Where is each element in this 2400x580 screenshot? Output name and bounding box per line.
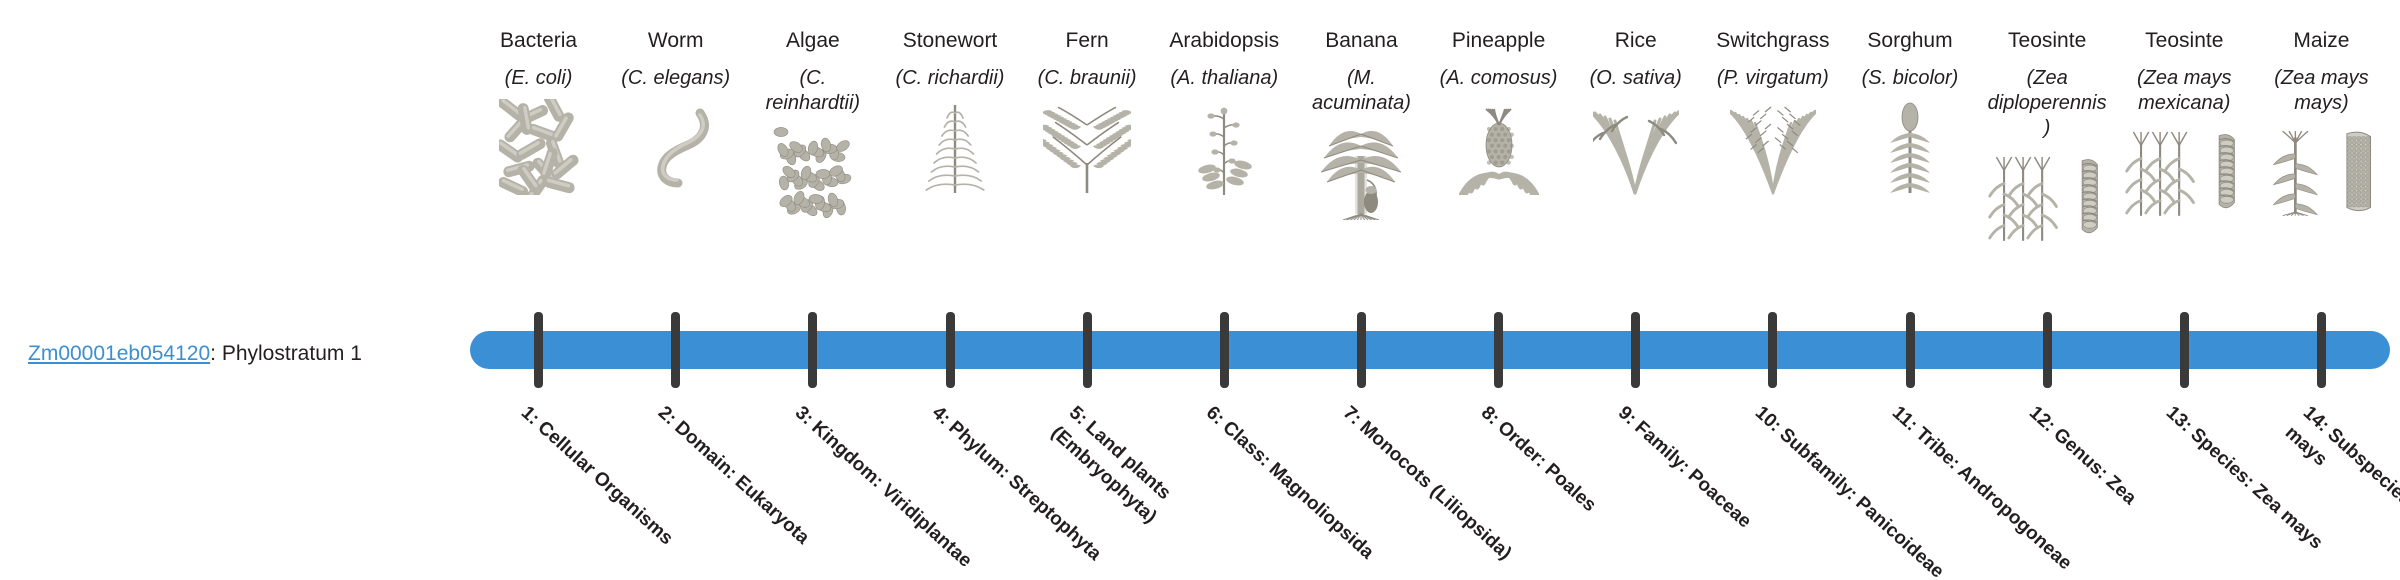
gene-phylostratum-label: Zm00001eb054120: Phylostratum 1 xyxy=(28,342,362,366)
phylostratum-number: 10: xyxy=(1751,402,1785,436)
species-column: Arabidopsis(A. thaliana) xyxy=(1162,28,1286,195)
species-scientific-name: (S. bicolor) xyxy=(1848,66,1972,91)
rice-illustration xyxy=(1574,99,1698,195)
species-common-name: Fern xyxy=(1025,28,1149,54)
species-common-name: Switchgrass xyxy=(1711,28,1835,54)
phylostratum-number: 11: xyxy=(1888,402,1922,435)
species-common-name: Pineapple xyxy=(1437,28,1561,54)
species-common-name: Teosinte xyxy=(2122,28,2246,54)
species-common-name: Stonewort xyxy=(888,28,1012,54)
species-column: Teosinte(Zea mays mexicana) xyxy=(2122,28,2246,220)
phylostratum-rank-text: Order: Poales xyxy=(1493,417,1600,516)
banana-illustration xyxy=(1299,124,1423,220)
species-column: Sorghum(S. bicolor) xyxy=(1848,28,1972,195)
species-column: Switchgrass(P. virgatum) xyxy=(1711,28,1835,195)
phylostratum-tick[interactable] xyxy=(671,312,680,388)
phylostratum-track: Bacteria(E. coli) xyxy=(470,0,2390,580)
species-column: Banana(M. acuminata) xyxy=(1299,28,1423,220)
gene-label-separator: : xyxy=(210,342,222,365)
maize-illustration xyxy=(2259,124,2383,220)
species-scientific-name: (O. sativa) xyxy=(1574,66,1698,91)
species-scientific-name: (A. thaliana) xyxy=(1162,66,1286,91)
species-column: Pineapple(A. comosus) xyxy=(1437,28,1561,195)
species-scientific-name: (A. comosus) xyxy=(1437,66,1561,91)
phylostratum-bar[interactable] xyxy=(470,331,2390,369)
arabidopsis-illustration xyxy=(1162,99,1286,195)
species-common-name: Banana xyxy=(1299,28,1423,54)
teosinte-diploperennis-illustration xyxy=(1985,149,2109,245)
species-scientific-name: (Zea mays mays) xyxy=(2259,66,2383,116)
nematode-illustration xyxy=(614,99,738,195)
sorghum-illustration xyxy=(1848,99,1972,195)
phylostratum-tick[interactable] xyxy=(1768,312,1777,388)
phylostratum-rank-text: Monocots (Liliopsida) xyxy=(1356,417,1516,564)
species-common-name: Maize xyxy=(2259,28,2383,54)
phylostratum-number: 12: xyxy=(2025,402,2059,436)
phylostratum-tick[interactable] xyxy=(1083,312,1092,388)
species-scientific-name: (Zea mays mexicana) xyxy=(2122,66,2246,116)
phylostratum-tick[interactable] xyxy=(808,312,817,388)
species-scientific-name: (C. richardii) xyxy=(888,66,1012,91)
species-common-name: Algae xyxy=(751,28,875,54)
phylostratum-tick[interactable] xyxy=(1494,312,1503,388)
species-column: Stonewort(C. richardii) xyxy=(888,28,1012,195)
species-scientific-name: (P. virgatum) xyxy=(1711,66,1835,91)
species-common-name: Bacteria xyxy=(477,28,601,54)
species-scientific-name: (C. braunii) xyxy=(1025,66,1149,91)
phylostratum-tick[interactable] xyxy=(2180,312,2189,388)
species-scientific-name: (M. acuminata) xyxy=(1299,66,1423,116)
species-column: Teosinte(Zea diploperennis) xyxy=(1985,28,2109,245)
pineapple-illustration xyxy=(1437,99,1561,195)
phylostratum-rank-text: Genus: Zea xyxy=(2049,424,2140,509)
teosinte-mexicana-illustration xyxy=(2122,124,2246,220)
species-common-name: Arabidopsis xyxy=(1162,28,1286,54)
species-scientific-name: (C. reinhardtii) xyxy=(751,66,875,116)
phylostratum-rank-text: Cellular Organisms xyxy=(533,417,677,549)
phylostratum-tick[interactable] xyxy=(946,312,955,388)
phylostratum-tick[interactable] xyxy=(1631,312,1640,388)
phylostratum-rank-text: Class: Magnoliopsida xyxy=(1219,417,1378,563)
phylostratigraphy-figure: Zm00001eb054120: Phylostratum 1 Bacteria… xyxy=(0,0,2400,580)
phylostratum-number: 13: xyxy=(2162,402,2196,436)
species-common-name: Rice xyxy=(1574,28,1698,54)
species-column: Worm(C. elegans) xyxy=(614,28,738,195)
phylostratum-tick[interactable] xyxy=(1906,312,1915,388)
phylostratum-tick[interactable] xyxy=(1220,312,1229,388)
algae-illustration xyxy=(751,124,875,220)
phylostratum-value: Phylostratum 1 xyxy=(222,342,362,365)
phylostratum-tick[interactable] xyxy=(1357,312,1366,388)
species-column: Maize(Zea mays mays) xyxy=(2259,28,2383,220)
species-scientific-name: (E. coli) xyxy=(477,66,601,91)
fern-illustration xyxy=(1025,99,1149,195)
phylostratum-tick[interactable] xyxy=(2317,312,2326,388)
species-scientific-name: (Zea diploperennis) xyxy=(1985,66,2109,141)
gene-id-link[interactable]: Zm00001eb054120 xyxy=(28,342,210,365)
bacteria-illustration xyxy=(477,99,601,195)
species-scientific-name: (C. elegans) xyxy=(614,66,738,91)
species-column: Rice(O. sativa) xyxy=(1574,28,1698,195)
species-column: Algae(C. reinhardtii) xyxy=(751,28,875,220)
species-common-name: Teosinte xyxy=(1985,28,2109,54)
stonewort-illustration xyxy=(888,99,1012,195)
phylostratum-tick[interactable] xyxy=(2043,312,2052,388)
phylostratum-rank-text: Family: Poaceae xyxy=(1630,417,1755,532)
species-column: Fern(C. braunii) xyxy=(1025,28,1149,195)
species-common-name: Worm xyxy=(614,28,738,54)
species-column: Bacteria(E. coli) xyxy=(477,28,601,195)
phylostratum-tick[interactable] xyxy=(534,312,543,388)
species-common-name: Sorghum xyxy=(1848,28,1972,54)
switchgrass-illustration xyxy=(1711,99,1835,195)
phylostratum-rank-text: Domain: Eukaryota xyxy=(670,417,813,548)
